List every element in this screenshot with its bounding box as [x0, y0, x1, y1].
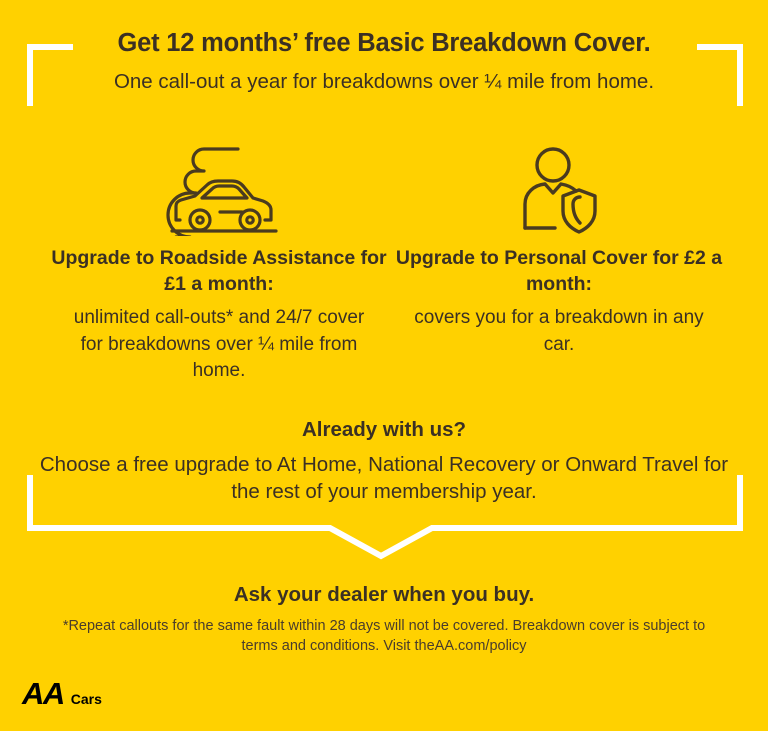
upgrade-column-roadside: Upgrade to Roadside Assistance for £1 a … [44, 140, 394, 384]
already-with-us-title: Already with us? [0, 418, 768, 442]
aa-logo-wordmark: Cars [71, 692, 102, 706]
upgrade-columns: Upgrade to Roadside Assistance for £1 a … [0, 140, 768, 384]
page-subtitle: One call-out a year for breakdowns over … [0, 69, 768, 96]
upgrade-heading-personal: Upgrade to Personal Cover for £2 a month… [394, 246, 724, 297]
promo-poster: Get 12 months’ free Basic Breakdown Cove… [0, 0, 768, 731]
already-with-us-body: Choose a free upgrade to At Home, Nation… [39, 451, 729, 506]
upgrade-heading-roadside: Upgrade to Roadside Assistance for £1 a … [44, 246, 394, 297]
upgrade-body-personal: covers you for a breakdown in any car. [409, 305, 709, 357]
aa-logo-mark: AA [22, 678, 64, 709]
call-to-action-text: Ask your dealer when you buy. [0, 583, 768, 607]
already-with-us-section: Already with us? Choose a free upgrade t… [0, 418, 768, 506]
upgrade-column-personal: Upgrade to Personal Cover for £2 a month… [394, 140, 724, 358]
aa-cars-logo: AA Cars [22, 678, 102, 709]
legal-disclaimer: *Repeat callouts for the same fault with… [44, 616, 724, 656]
car-on-winding-road-icon [154, 140, 284, 240]
footer: Ask your dealer when you buy. *Repeat ca… [0, 583, 768, 656]
upgrade-body-roadside: unlimited call-outs* and 24/7 cover for … [64, 305, 374, 384]
page-title: Get 12 months’ free Basic Breakdown Cove… [0, 28, 768, 60]
header: Get 12 months’ free Basic Breakdown Cove… [0, 28, 768, 96]
person-with-shield-icon [513, 140, 605, 240]
